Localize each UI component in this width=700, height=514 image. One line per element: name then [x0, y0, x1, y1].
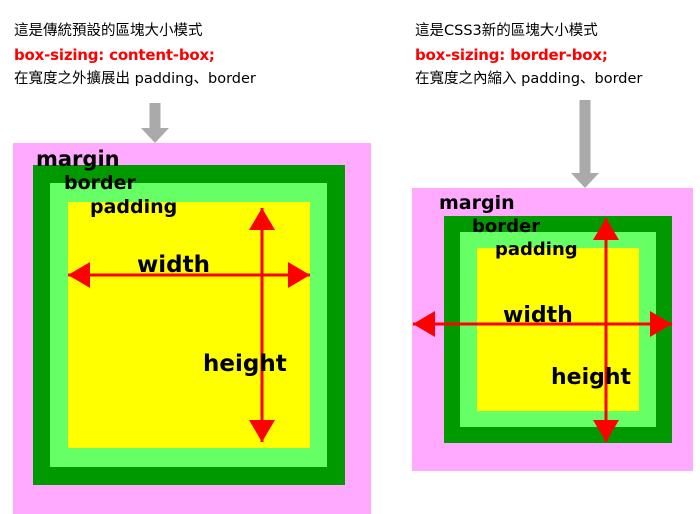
arrow-head-up: [249, 208, 275, 230]
double-arrow-vertical-icon: [249, 208, 275, 442]
arrow-bar: [261, 208, 264, 442]
arrow-shaft: [580, 100, 591, 174]
arrow-head-right: [650, 311, 672, 337]
arrow-bar: [605, 218, 608, 442]
width-label: width: [503, 303, 573, 328]
arrow-head-right: [288, 262, 310, 288]
double-arrow-vertical-icon: [593, 218, 619, 442]
arrow-down-icon: [141, 103, 169, 143]
height-label: height: [203, 351, 287, 377]
padding-label: padding: [495, 239, 578, 260]
arrow-shaft: [150, 103, 161, 129]
border-label: border: [472, 216, 540, 237]
border-label: border: [64, 172, 136, 194]
width-label: width: [137, 252, 210, 278]
arrow-head: [571, 173, 599, 188]
left-caption-code: box-sizing: content-box;: [14, 43, 256, 67]
arrow-head-up: [593, 218, 619, 240]
right-caption-code: box-sizing: border-box;: [415, 43, 642, 67]
arrow-head-down: [593, 420, 619, 442]
left-caption-line-3: 在寬度之外擴展出 padding、border: [14, 68, 256, 91]
arrow-head: [141, 128, 169, 143]
right-caption-block: 這是CSS3新的區塊大小模式 box-sizing: border-box; 在…: [415, 20, 642, 91]
right-caption-line-3: 在寬度之內縮入 padding、border: [415, 68, 642, 91]
height-label: height: [551, 365, 631, 390]
arrow-head-left: [68, 262, 90, 288]
left-caption-line-1: 這是傳統預設的區塊大小模式: [14, 20, 256, 43]
padding-label: padding: [90, 196, 177, 218]
margin-label: margin: [439, 192, 515, 214]
arrow-down-icon: [571, 100, 599, 188]
arrow-head-left: [413, 311, 435, 337]
margin-label: margin: [36, 147, 120, 171]
right-caption-line-1: 這是CSS3新的區塊大小模式: [415, 20, 642, 43]
left-caption-block: 這是傳統預設的區塊大小模式 box-sizing: content-box; 在…: [14, 20, 256, 91]
arrow-head-down: [249, 420, 275, 442]
